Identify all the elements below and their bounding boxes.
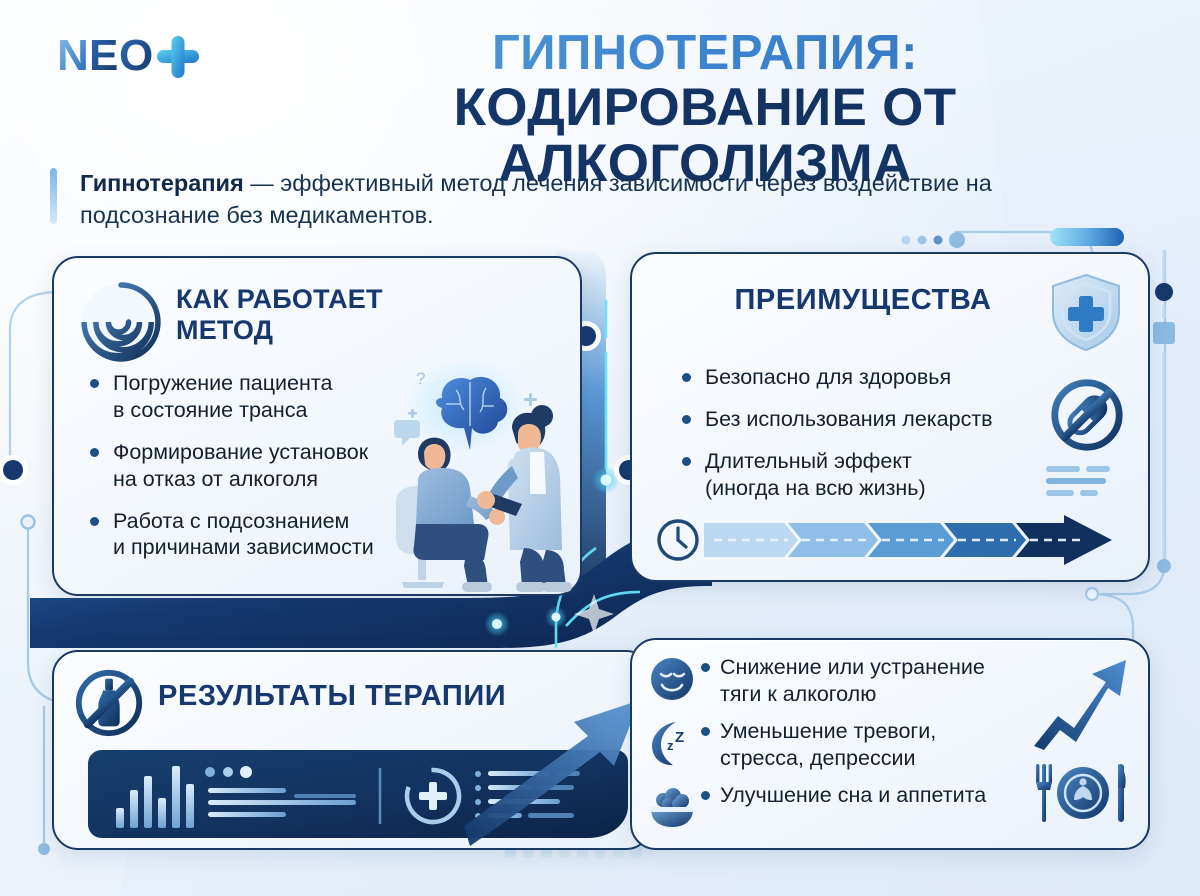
svg-text:z: z — [667, 738, 674, 753]
card-title: ПРЕИМУЩЕСТВА — [632, 284, 1094, 317]
bullet-line-2: тяги к алкоголю — [720, 682, 876, 706]
healthy-plate-icon — [1034, 758, 1132, 828]
glow-node — [592, 466, 620, 494]
list-item: Безопасно для здоровья — [678, 364, 1038, 391]
spiral-hypnosis-icon — [79, 280, 163, 364]
bullet-line-2: стресса, депрессии — [720, 746, 916, 770]
therapy-session-illustration: ? — [346, 354, 586, 594]
bullet-line-2: (иногда на всю жизнь) — [705, 475, 1038, 502]
card-title-wrap: РЕЗУЛЬТАТЫ ТЕРАПИИ — [158, 680, 506, 713]
svg-text:O: O — [119, 31, 152, 80]
sparkle-icon — [574, 594, 614, 634]
bullet-line-1: Без использования лекарств — [705, 407, 993, 431]
list-item: Длительный эффект (иногда на всю жизнь) — [678, 448, 1038, 502]
svg-text:N: N — [57, 31, 88, 80]
plus-glyph — [157, 36, 199, 78]
connector-puck — [0, 455, 28, 485]
list-item: Улучшение сна и аппетита — [646, 780, 1086, 832]
lede-accent-bar — [50, 168, 57, 224]
card-advantages[interactable]: ПРЕИМУЩЕСТВА Безопасно для здоровья Без … — [630, 252, 1150, 582]
node-circle — [22, 516, 35, 529]
list-item: Снижение или устранение тяги к алкоголю — [646, 652, 1086, 708]
circuit-traces-left-lower — [10, 292, 58, 470]
bullet-line-1: Работа с подсознанием — [113, 509, 349, 533]
panel-dots — [205, 766, 252, 778]
bullet-line-1: Уменьшение тревоги, — [720, 719, 936, 743]
glow-node — [545, 606, 567, 628]
decor-dots-top — [902, 232, 966, 248]
card-how-method-works[interactable]: КАК РАБОТАЕТ МЕТОД Погружение пациента в… — [52, 256, 582, 596]
duration-progress-arrow — [656, 514, 1126, 566]
question-mark-icon: ? — [416, 369, 425, 388]
right-rail-decor — [1153, 250, 1175, 573]
bullet-line-1: Погружение пациента — [113, 371, 332, 395]
glow-node — [484, 611, 510, 637]
glow-core — [601, 475, 612, 486]
shield-cross-icon — [1049, 272, 1123, 352]
bullet-line-1: Формирование установок — [113, 440, 368, 464]
outcomes-rows: Снижение или устранение тяги к алкоголю … — [646, 652, 1086, 840]
node-circle — [1086, 588, 1098, 600]
advantages-bullet-list: Безопасно для здоровья Без использования… — [678, 364, 1038, 517]
salad-bowl-icon — [646, 782, 698, 832]
list-item: z Z Уменьшение тревоги, стресса, депресс… — [646, 716, 1086, 772]
svg-text:Z: Z — [675, 729, 684, 746]
bullet-line-1: Безопасно для здоровья — [705, 365, 951, 389]
card-title-wrap: КАК РАБОТАЕТ МЕТОД — [176, 284, 476, 346]
therapist-bun — [531, 405, 553, 427]
no-alcohol-icon — [72, 666, 146, 740]
calm-face-icon — [646, 654, 698, 704]
fork-glyph — [1036, 764, 1052, 822]
chat-bubble-icon — [394, 420, 420, 438]
svg-text:E: E — [89, 31, 117, 80]
card-outcomes[interactable]: Снижение или устранение тяги к алкоголю … — [630, 638, 1150, 850]
card-title: КАК РАБОТАЕТ МЕТОД — [176, 284, 476, 346]
infographic-canvas: N E O ГИПНОТЕРАПИЯ: КОДИРОВАНИЕ ОТ АЛКОГ… — [0, 0, 1200, 896]
card-title: РЕЗУЛЬТАТЫ ТЕРАПИИ — [158, 680, 506, 713]
bullet-line-1: Снижение или устранение — [720, 655, 985, 679]
title-line-1: ГИПНОТЕРАПИЯ: — [255, 28, 1155, 79]
knife-glyph — [1118, 764, 1126, 822]
lede-bold-term: Гипнотерапия — [80, 170, 244, 196]
growth-arrow-icon — [1030, 654, 1130, 752]
results-dashboard-panel — [88, 750, 628, 838]
node-dot — [38, 843, 50, 855]
card-therapy-results[interactable]: РЕЗУЛЬТАТЫ ТЕРАПИИ — [52, 650, 652, 850]
list-item: Без использования лекарств — [678, 406, 1038, 433]
lede-paragraph: Гипнотерапия — эффективный метод лечения… — [80, 168, 1080, 232]
bullet-line-1: Длительный эффект — [705, 449, 912, 473]
no-pill-icon — [1048, 376, 1126, 454]
bullet-line-1: Улучшение сна и аппетита — [720, 783, 986, 807]
logo-neo-plus[interactable]: N E O — [57, 30, 257, 82]
moon-sleep-icon: z Z — [646, 718, 698, 768]
text-lines-icon — [1046, 466, 1122, 498]
